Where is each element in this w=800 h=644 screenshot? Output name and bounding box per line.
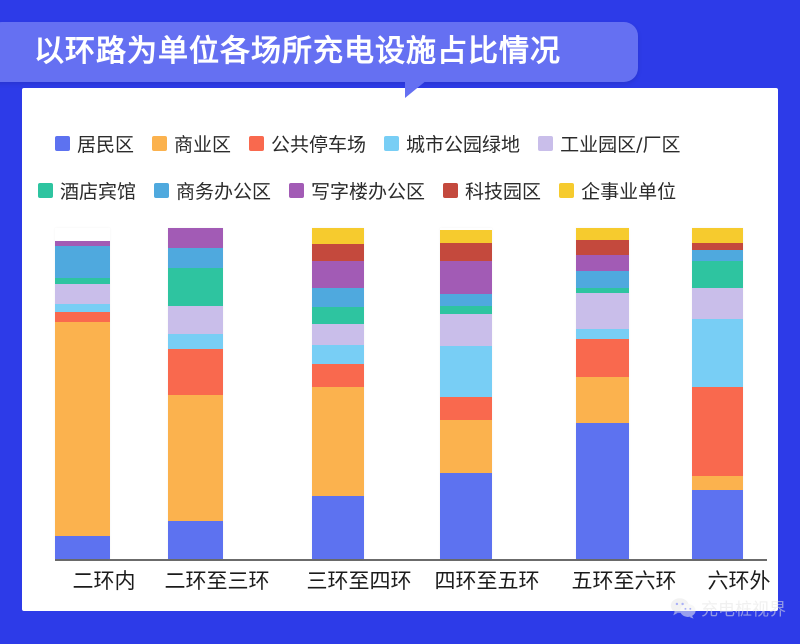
legend-swatch-icon: [443, 183, 458, 198]
bar-segment-企事业单位[interactable]: [692, 228, 743, 243]
bar-segment-居民区[interactable]: [168, 521, 223, 559]
legend-item-居民区[interactable]: 居民区: [55, 130, 134, 157]
legend-row-primary: 居民区商业区公共停车场城市公园绿地工业园区/厂区: [55, 130, 698, 157]
x-axis-label-六环外: 六环外: [659, 565, 800, 595]
legend-item-商务办公区[interactable]: 商务办公区: [154, 177, 271, 204]
bar-segment-写字楼办公区[interactable]: [440, 261, 492, 294]
bar-segment-商务办公区[interactable]: [440, 294, 492, 306]
legend-label: 公共停车场: [271, 130, 366, 157]
bar-segment-写字楼办公区[interactable]: [312, 261, 364, 288]
bar-二环至三环[interactable]: [168, 228, 223, 559]
bar-segment-酒店宾馆[interactable]: [168, 268, 223, 306]
bar-segment-科技园区[interactable]: [692, 243, 743, 250]
bar-三环至四环[interactable]: [312, 228, 364, 559]
bar-segment-工业园区/厂区[interactable]: [576, 293, 629, 329]
legend-label: 科技园区: [465, 177, 541, 204]
x-axis-labels: 二环内二环至三环三环至四环四环至五环五环至六环六环外: [22, 565, 778, 601]
bar-segment-商务办公区[interactable]: [55, 246, 110, 277]
watermark-text: 充电桩视界: [701, 595, 786, 620]
bar-segment-写字楼办公区[interactable]: [576, 255, 629, 272]
bar-segment-企事业单位[interactable]: [576, 228, 629, 240]
legend-label: 居民区: [77, 130, 134, 157]
bar-segment-城市公园绿地[interactable]: [168, 334, 223, 349]
bar-二环内[interactable]: [55, 228, 110, 559]
legend-label: 商务办公区: [176, 177, 271, 204]
bar-segment-城市公园绿地[interactable]: [312, 345, 364, 364]
legend-swatch-icon: [154, 183, 169, 198]
bar-segment-公共停车场[interactable]: [692, 387, 743, 476]
legend-item-公共停车场[interactable]: 公共停车场: [249, 130, 366, 157]
legend-swatch-icon: [55, 136, 70, 151]
legend-item-科技园区[interactable]: 科技园区: [443, 177, 541, 204]
bar-segment-商业区[interactable]: [440, 420, 492, 473]
wechat-icon: [670, 597, 696, 619]
bar-segment-居民区[interactable]: [55, 536, 110, 559]
legend-label: 商业区: [174, 130, 231, 157]
legend-swatch-icon: [289, 183, 304, 198]
bar-segment-城市公园绿地[interactable]: [576, 329, 629, 339]
legend-label: 企事业单位: [581, 177, 676, 204]
bar-segment-公共停车场[interactable]: [312, 364, 364, 388]
x-axis-label-二环至三环: 二环至三环: [137, 565, 297, 595]
bar-segment-公共停车场[interactable]: [440, 397, 492, 420]
bar-segment-科技园区[interactable]: [440, 243, 492, 261]
bar-segment-公共停车场[interactable]: [168, 349, 223, 395]
x-axis-label-四环至五环: 四环至五环: [407, 565, 567, 595]
legend-item-酒店宾馆[interactable]: 酒店宾馆: [38, 177, 136, 204]
bar-segment-酒店宾馆[interactable]: [440, 306, 492, 314]
bar-segment-商业区[interactable]: [55, 322, 110, 535]
legend-label: 城市公园绿地: [406, 130, 520, 157]
bar-segment-工业园区/厂区[interactable]: [692, 288, 743, 319]
legend-label: 写字楼办公区: [311, 177, 425, 204]
bar-segment-酒店宾馆[interactable]: [312, 307, 364, 324]
legend-item-工业园区/厂区[interactable]: 工业园区/厂区: [538, 130, 680, 157]
bar-segment-商务办公区[interactable]: [576, 271, 629, 288]
legend-swatch-icon: [152, 136, 167, 151]
legend-swatch-icon: [249, 136, 264, 151]
bar-segment-居民区[interactable]: [576, 423, 629, 559]
legend-swatch-icon: [538, 136, 553, 151]
bar-segment-商务办公区[interactable]: [312, 288, 364, 307]
legend-label: 酒店宾馆: [60, 177, 136, 204]
bar-segment-居民区[interactable]: [692, 490, 743, 560]
bar-segment-商业区[interactable]: [692, 476, 743, 489]
page-title: 以环路为单位各场所充电设施占比情况: [34, 22, 634, 82]
bar-segment-商业区[interactable]: [168, 395, 223, 521]
legend-label: 工业园区/厂区: [560, 130, 680, 157]
bar-segment-科技园区[interactable]: [576, 240, 629, 255]
bar-四环至五环[interactable]: [440, 228, 492, 559]
bar-五环至六环[interactable]: [576, 228, 629, 559]
bar-segment-商业区[interactable]: [312, 387, 364, 496]
bar-segment-工业园区/厂区[interactable]: [312, 324, 364, 344]
bar-segment-居民区[interactable]: [440, 473, 492, 559]
bar-segment-企事业单位[interactable]: [440, 230, 492, 243]
bar-segment-工业园区/厂区[interactable]: [168, 306, 223, 334]
bar-segment-商务办公区[interactable]: [692, 250, 743, 262]
bar-segment-科技园区[interactable]: [312, 244, 364, 261]
bar-segment-商业区[interactable]: [576, 377, 629, 423]
bar-segment-居民区[interactable]: [312, 496, 364, 559]
bar-segment-公共停车场[interactable]: [55, 312, 110, 322]
bar-segment-工业园区/厂区[interactable]: [55, 284, 110, 304]
legend-item-商业区[interactable]: 商业区: [152, 130, 231, 157]
bar-segment-商务办公区[interactable]: [168, 248, 223, 268]
legend-item-城市公园绿地[interactable]: 城市公园绿地: [384, 130, 520, 157]
legend-row-secondary: 酒店宾馆商务办公区写字楼办公区科技园区企事业单位: [38, 177, 694, 204]
legend-swatch-icon: [38, 183, 53, 198]
bar-segment-写字楼办公区[interactable]: [168, 228, 223, 248]
bar-segment-城市公园绿地[interactable]: [440, 346, 492, 397]
legend-item-写字楼办公区[interactable]: 写字楼办公区: [289, 177, 425, 204]
bar-segment-工业园区/厂区[interactable]: [440, 314, 492, 345]
stacked-bar-chart: [22, 215, 778, 563]
bar-segment-酒店宾馆[interactable]: [692, 261, 743, 287]
bar-segment-企事业单位[interactable]: [312, 228, 364, 244]
legend-item-企事业单位[interactable]: 企事业单位: [559, 177, 676, 204]
bar-segment-公共停车场[interactable]: [576, 339, 629, 377]
bar-segment-酒店宾馆[interactable]: [55, 278, 110, 285]
bar-六环外[interactable]: [692, 228, 743, 559]
infographic-root: 以环路为单位各场所充电设施占比情况 居民区商业区公共停车场城市公园绿地工业园区/…: [0, 0, 800, 644]
legend-swatch-icon: [559, 183, 574, 198]
bar-segment-城市公园绿地[interactable]: [692, 319, 743, 387]
x-axis-line: [55, 559, 767, 561]
watermark: 充电桩视界: [670, 595, 786, 620]
legend-swatch-icon: [384, 136, 399, 151]
bar-segment-城市公园绿地[interactable]: [55, 304, 110, 312]
title-banner-tail: [405, 80, 427, 98]
